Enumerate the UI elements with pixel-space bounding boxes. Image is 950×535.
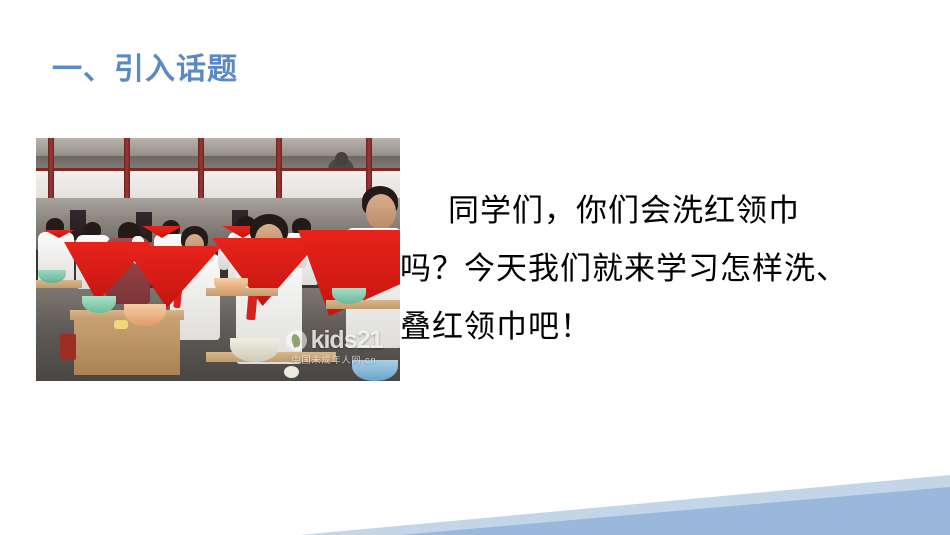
slide-canvas: 一、引入话题 (0, 0, 950, 535)
photo-bucket (60, 334, 76, 360)
page-title: 一、引入话题 (52, 52, 238, 88)
photo-soap (114, 320, 128, 329)
footer-ribbon-dark (0, 487, 950, 535)
intro-line-1: 同学们，你们会洗红领巾 (400, 182, 920, 240)
photo-student-face (366, 194, 396, 230)
lesson-intro-text: 同学们，你们会洗红领巾 吗？今天我们就来学习怎样洗、 叠红领巾吧！ (400, 182, 920, 356)
intro-line-3: 叠红领巾吧！ (400, 298, 920, 356)
photo-soap (284, 366, 299, 378)
lesson-photo: kids21 中国未成年人网.cn (36, 138, 400, 381)
photo-statue-head (335, 152, 348, 166)
intro-line-2: 吗？今天我们就来学习怎样洗、 (400, 240, 920, 298)
